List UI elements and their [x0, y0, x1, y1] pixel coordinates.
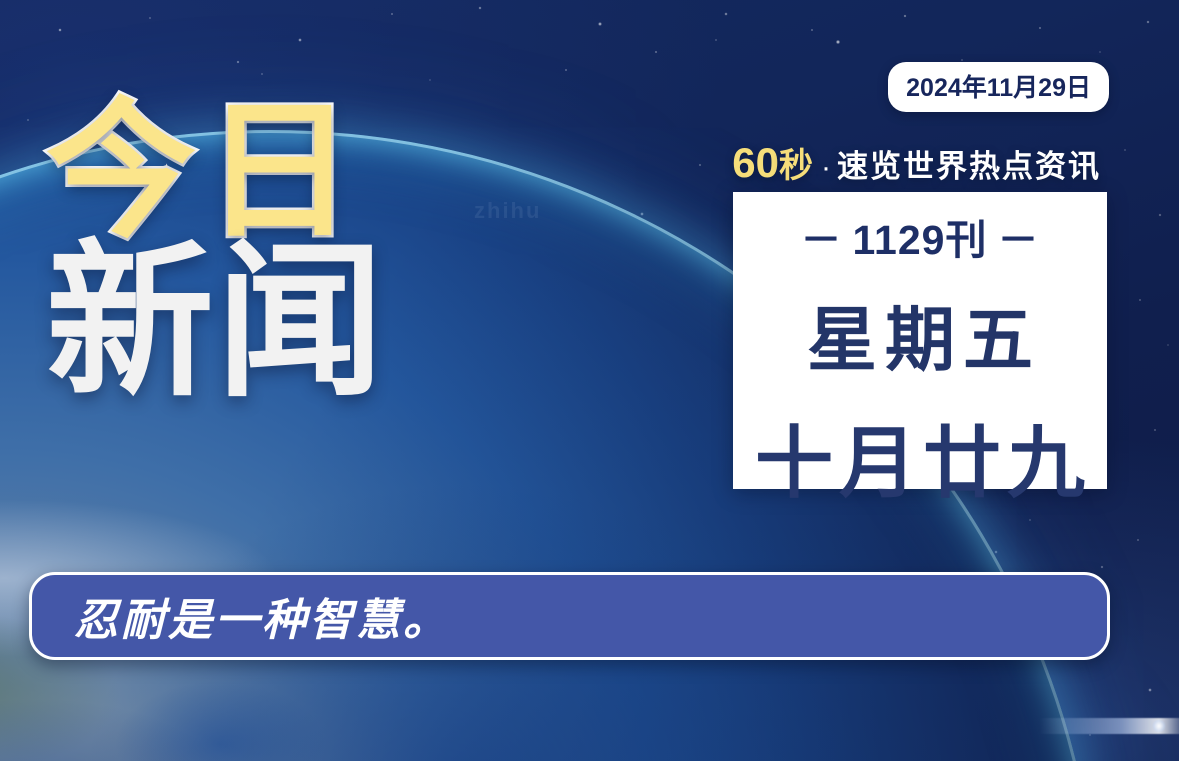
title-line-news: 新闻: [46, 238, 386, 406]
issue-info-card: －1129刊－ 星期五 十月廿九: [733, 192, 1107, 489]
tagline-separator: ·: [813, 151, 837, 185]
tagline-number-value: 60: [732, 139, 779, 186]
watermark: zhihu: [474, 198, 541, 224]
poster-title: 今日 新闻: [46, 96, 386, 406]
quote-bar: 忍耐是一种智慧。: [29, 572, 1110, 660]
issue-dash-right: －: [987, 217, 1049, 263]
weekday-label: 星期五: [799, 284, 1041, 385]
poster-canvas: zhihu 今日 新闻 2024年11月29日 60秒 · 速览世界热点资讯 －…: [0, 0, 1179, 761]
tagline-text: 速览世界热点资讯: [837, 141, 1101, 186]
lunar-date-label: 十月廿九: [749, 401, 1091, 513]
issue-number-row: －1129刊－: [791, 206, 1050, 266]
tagline-number-unit: 秒: [779, 147, 813, 185]
issue-number: 1129刊: [853, 217, 988, 263]
tagline-number: 60秒: [732, 138, 813, 187]
issue-dash-left: －: [791, 217, 853, 263]
quote-text: 忍耐是一种智慧。: [32, 584, 450, 648]
star-flare-icon: [1039, 718, 1179, 734]
title-line-today: 今日: [46, 96, 386, 246]
tagline: 60秒 · 速览世界热点资讯: [732, 138, 1101, 187]
date-badge: 2024年11月29日: [888, 62, 1109, 112]
